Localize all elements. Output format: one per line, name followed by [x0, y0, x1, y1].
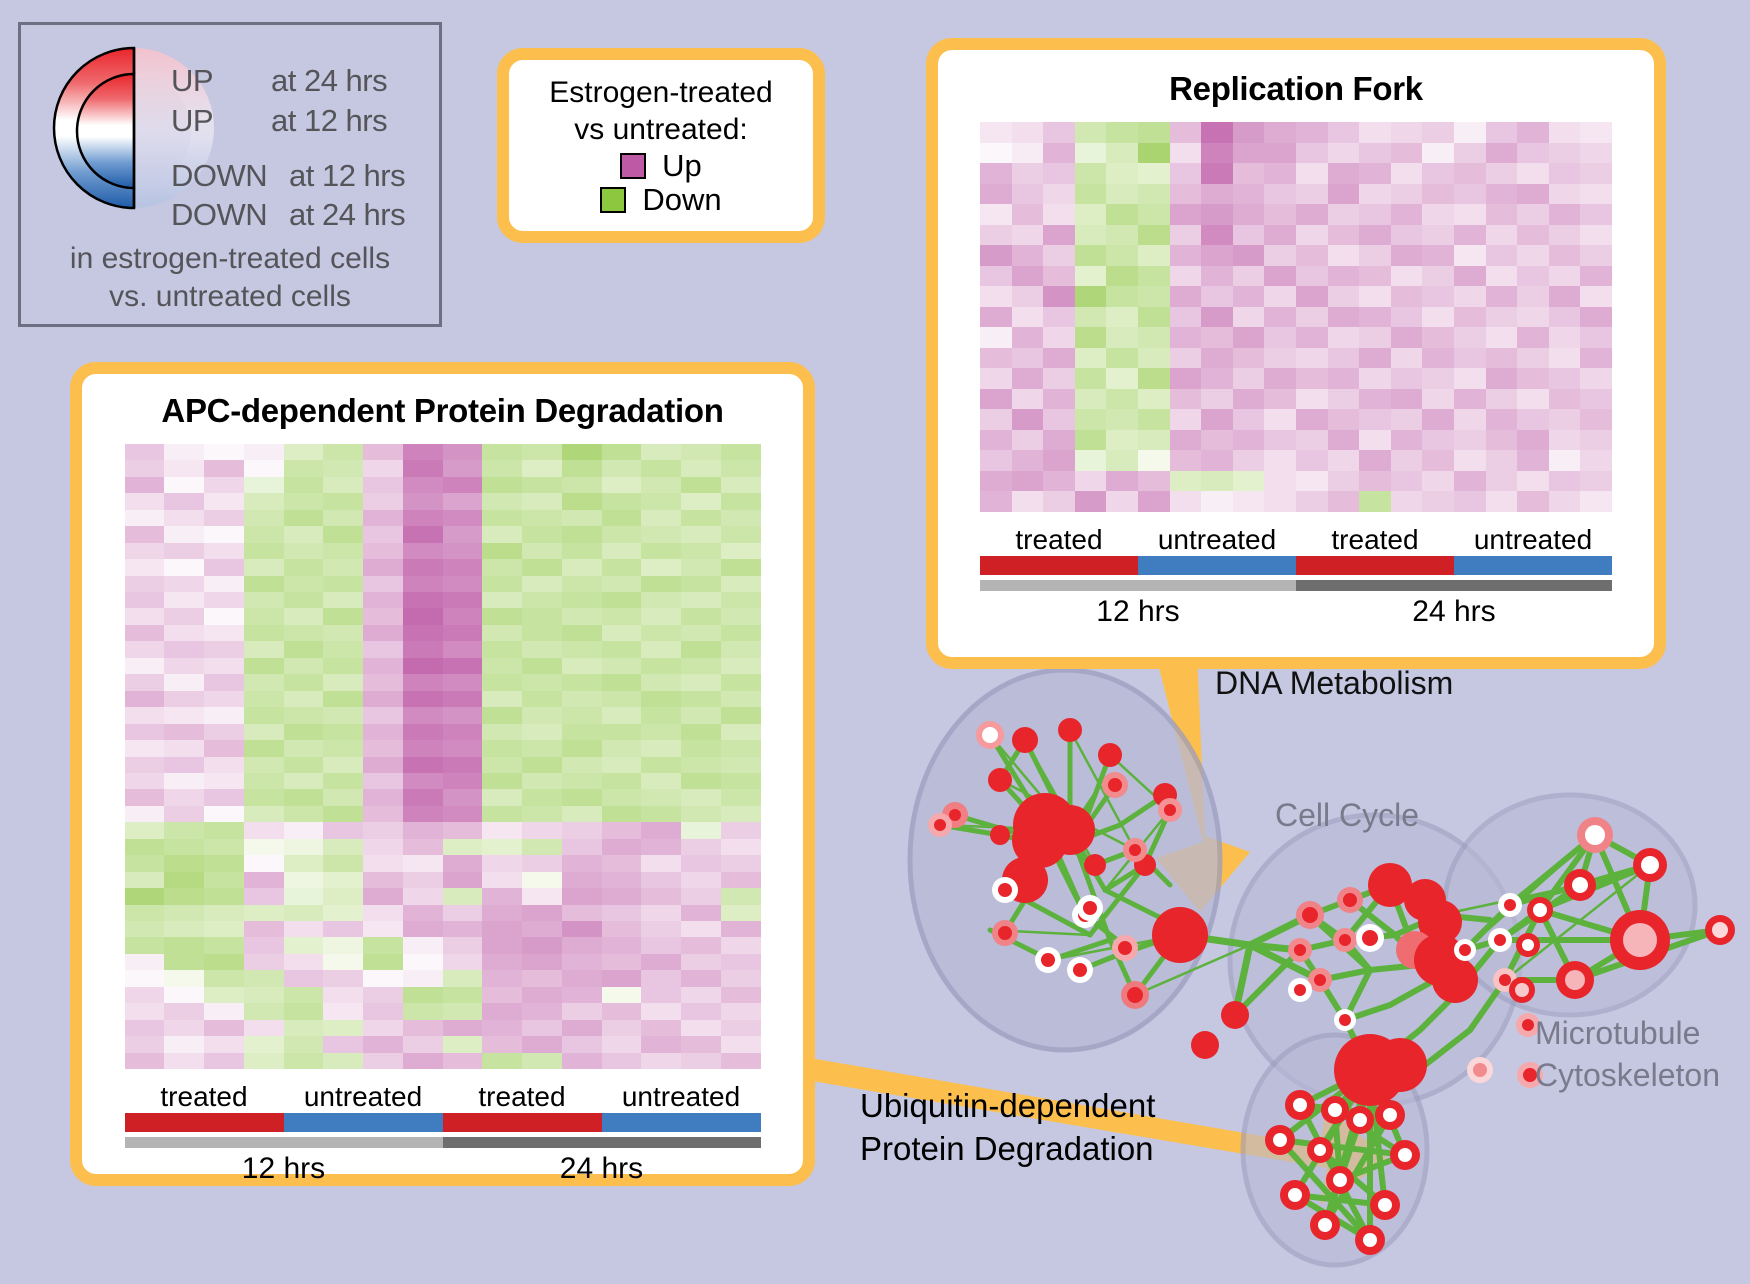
heatmap-cell	[1422, 409, 1454, 430]
heatmap-cell	[403, 806, 443, 822]
heatmap-cell	[204, 641, 244, 657]
heatmap-cell	[1012, 184, 1044, 205]
heatmap-cell	[443, 691, 483, 707]
heatmap-cell	[562, 773, 602, 789]
heatmap-cell	[403, 1003, 443, 1019]
heatmap-cell	[602, 477, 642, 493]
heatmap-cell	[522, 559, 562, 575]
heatmap-cell	[323, 872, 363, 888]
heatmap-cell	[1391, 471, 1423, 492]
heatmap-cell	[1264, 122, 1296, 143]
heatmap-cell	[721, 921, 761, 937]
heatmap-cell	[1517, 348, 1549, 369]
heatmap-cell	[125, 987, 165, 1003]
legend-item-up: Up	[509, 150, 813, 182]
heatmap-cell	[204, 921, 244, 937]
heatmap-cell	[443, 493, 483, 509]
heatmap-cell	[681, 1003, 721, 1019]
heatmap-cell	[284, 839, 324, 855]
heatmap-cell	[641, 1036, 681, 1052]
time-label: 24 hrs	[1296, 595, 1612, 629]
group-label: untreated	[284, 1081, 443, 1113]
heatmap-cell	[681, 460, 721, 476]
heatmap-cell	[125, 674, 165, 690]
heatmap-cell	[1106, 430, 1138, 451]
heatmap-cell	[1106, 184, 1138, 205]
heatmap-cell	[244, 674, 284, 690]
heatmap-cell	[1264, 409, 1296, 430]
heatmap-cell	[1359, 266, 1391, 287]
heatmap-cell	[1043, 368, 1075, 389]
heatmap-cell	[204, 658, 244, 674]
heatmap-cell	[164, 855, 204, 871]
heatmap-cell	[1328, 327, 1360, 348]
heatmap-cell	[1170, 204, 1202, 225]
heatmap-cell	[522, 658, 562, 674]
heatmap-cell	[1138, 163, 1170, 184]
heatmap-cell	[1549, 450, 1581, 471]
heatmap-cell	[721, 822, 761, 838]
heatmap-cell	[1454, 204, 1486, 225]
heatmap-cell	[403, 674, 443, 690]
heatmap-cell	[244, 1020, 284, 1036]
heatmap-cell	[1296, 163, 1328, 184]
heatmap-cell	[1138, 204, 1170, 225]
heatmap-cell	[1170, 327, 1202, 348]
heatmap-cell	[284, 460, 324, 476]
heatmap-cell	[403, 888, 443, 904]
heatmap-cell	[284, 477, 324, 493]
heatmap-cell	[323, 789, 363, 805]
heatmap-cell	[1170, 368, 1202, 389]
heatmap-cell	[1359, 286, 1391, 307]
heatmap-cell	[1328, 122, 1360, 143]
heatmap-cell	[1075, 450, 1107, 471]
heatmap-cell	[1296, 122, 1328, 143]
heatmap-cell	[204, 576, 244, 592]
heatmap-cell	[1233, 163, 1265, 184]
heatmap-cell	[1170, 245, 1202, 266]
heatmap-cell	[1012, 163, 1044, 184]
heatmap-cell	[641, 493, 681, 509]
heatmap-cell	[602, 822, 642, 838]
heatmap-cell	[1517, 368, 1549, 389]
heatmap-cell	[1170, 450, 1202, 471]
heatmap-cell	[721, 460, 761, 476]
heatmap-cell	[1170, 286, 1202, 307]
heatmap-cell	[522, 872, 562, 888]
heatmap-cell	[284, 608, 324, 624]
heatmap-cell	[1580, 409, 1612, 430]
heatmap-cell	[1043, 266, 1075, 287]
heatmap-cell	[1264, 450, 1296, 471]
heatmap-cell	[721, 543, 761, 559]
treatment-bar-segment	[980, 556, 1138, 575]
heatmap-cell	[1454, 430, 1486, 451]
heatmap-cell	[125, 1020, 165, 1036]
apc-title: APC-dependent Protein Degradation	[82, 392, 803, 430]
heatmap-cell	[125, 789, 165, 805]
heatmap-cell	[323, 674, 363, 690]
heatmap-cell	[1075, 225, 1107, 246]
heatmap-cell	[980, 491, 1012, 512]
heatmap-cell	[244, 691, 284, 707]
heatmap-cell	[363, 1053, 403, 1069]
heatmap-cell	[562, 888, 602, 904]
heatmap-cell	[1549, 327, 1581, 348]
heatmap-cell	[1486, 348, 1518, 369]
heatmap-cell	[482, 576, 522, 592]
heatmap-cell	[1422, 368, 1454, 389]
heatmap-cell	[522, 937, 562, 953]
heatmap-cell	[1486, 245, 1518, 266]
heatmap-cell	[1106, 163, 1138, 184]
heatmap-cell	[562, 921, 602, 937]
heatmap-cell	[1043, 491, 1075, 512]
heatmap-cell	[1264, 430, 1296, 451]
heatmap-cell	[1233, 245, 1265, 266]
heatmap-cell	[1328, 225, 1360, 246]
heatmap-cell	[562, 576, 602, 592]
heatmap-cell	[482, 543, 522, 559]
heatmap-cell	[1233, 327, 1265, 348]
heatmap-cell	[323, 954, 363, 970]
heatmap-cell	[244, 1003, 284, 1019]
treatment-bar-segment	[125, 1113, 284, 1132]
heatmap-cell	[482, 641, 522, 657]
heatmap-cell	[1328, 368, 1360, 389]
heatmap-cell	[641, 559, 681, 575]
heatmap-cell	[522, 855, 562, 871]
heatmap-cell	[1201, 389, 1233, 410]
heatmap-cell	[681, 987, 721, 1003]
heatmap-cell	[681, 806, 721, 822]
heatmap-cell	[1012, 204, 1044, 225]
heatmap-cell	[1138, 389, 1170, 410]
heatmap-cell	[204, 707, 244, 723]
heatmap-cell	[562, 987, 602, 1003]
heatmap-cell	[641, 740, 681, 756]
heatmap-cell	[721, 1003, 761, 1019]
heatmap-cell	[602, 905, 642, 921]
heatmap-cell	[1359, 389, 1391, 410]
heatmap-cell	[1012, 409, 1044, 430]
heatmap-cell	[1486, 266, 1518, 287]
heatmap-cell	[284, 1003, 324, 1019]
heatmap-cell	[125, 872, 165, 888]
heatmap-cell	[1549, 491, 1581, 512]
heatmap-cell	[1359, 245, 1391, 266]
heatmap-cell	[284, 970, 324, 986]
heatmap-cell	[244, 707, 284, 723]
heatmap-cell	[1075, 430, 1107, 451]
heatmap-cell	[1233, 286, 1265, 307]
heatmap-cell	[1517, 204, 1549, 225]
heatmap-cell	[1264, 266, 1296, 287]
heatmap-cell	[1580, 225, 1612, 246]
heatmap-cell	[125, 888, 165, 904]
heatmap-cell	[244, 444, 284, 460]
heatmap-cell	[284, 937, 324, 953]
heatmap-cell	[1106, 491, 1138, 512]
heatmap-cell	[323, 987, 363, 1003]
heatmap-cell	[602, 773, 642, 789]
treatment-bar-segment	[443, 1113, 602, 1132]
heatmap-cell	[363, 839, 403, 855]
heatmap-cell	[244, 543, 284, 559]
heatmap-cell	[244, 921, 284, 937]
heatmap-cell	[125, 773, 165, 789]
heatmap-cell	[363, 872, 403, 888]
heatmap-cell	[1549, 307, 1581, 328]
heatmap-cell	[1422, 143, 1454, 164]
heatmap-cell	[482, 691, 522, 707]
heatmap-cell	[323, 625, 363, 641]
heatmap-cell	[323, 839, 363, 855]
heatmap-cell	[482, 872, 522, 888]
heatmap-cell	[323, 707, 363, 723]
heatmap-cell	[1075, 286, 1107, 307]
heatmap-cell	[562, 839, 602, 855]
heatmap-cell	[522, 839, 562, 855]
heatmap-cell	[562, 905, 602, 921]
heatmap-cell	[721, 757, 761, 773]
heatmap-cell	[1454, 327, 1486, 348]
heatmap-cell	[1391, 368, 1423, 389]
heatmap-cell	[1233, 225, 1265, 246]
heatmap-cell	[1580, 184, 1612, 205]
heatmap-cell	[244, 592, 284, 608]
heatmap-cell	[641, 444, 681, 460]
heatmap-cell	[1201, 450, 1233, 471]
heatmap-cell	[125, 707, 165, 723]
heatmap-cell	[125, 510, 165, 526]
heatmap-cell	[363, 740, 403, 756]
heatmap-cell	[482, 493, 522, 509]
panel-apc-dependent-protein-degradation: APC-dependent Protein Degradation treate…	[70, 362, 815, 1186]
heatmap-cell	[1233, 389, 1265, 410]
heatmap-cell	[1422, 348, 1454, 369]
heatmap-cell	[284, 724, 324, 740]
heatmap-cell	[562, 493, 602, 509]
heatmap-cell	[681, 1020, 721, 1036]
heatmap-cell	[1580, 491, 1612, 512]
heatmap-cell	[403, 625, 443, 641]
heatmap-cell	[1391, 204, 1423, 225]
heatmap-cell	[721, 724, 761, 740]
heatmap-cell	[1454, 471, 1486, 492]
heatmap-cell	[164, 724, 204, 740]
heatmap-cell	[204, 937, 244, 953]
heatmap-cell	[1012, 389, 1044, 410]
time-bar-segment	[443, 1137, 761, 1148]
heatmap-cell	[522, 1053, 562, 1069]
heatmap-cell	[1391, 450, 1423, 471]
heatmap-cell	[562, 724, 602, 740]
heatmap-cell	[403, 872, 443, 888]
heatmap-cell	[284, 905, 324, 921]
heatmap-cell	[403, 477, 443, 493]
heatmap-cell	[1580, 307, 1612, 328]
heatmap-cell	[1454, 163, 1486, 184]
heatmap-cell	[403, 937, 443, 953]
heatmap-cell	[980, 122, 1012, 143]
heatmap-cell	[244, 872, 284, 888]
heatmap-cell	[641, 806, 681, 822]
heatmap-cell	[980, 204, 1012, 225]
heatmap-cell	[482, 937, 522, 953]
heatmap-cell	[443, 954, 483, 970]
up-down-legend-line1: Estrogen-treated	[509, 74, 813, 111]
heatmap-cell	[980, 266, 1012, 287]
heatmap-cell	[1170, 389, 1202, 410]
heatmap-cell	[602, 674, 642, 690]
heatmap-cell	[1233, 409, 1265, 430]
heatmap-cell	[284, 773, 324, 789]
heatmap-cell	[403, 1020, 443, 1036]
heatmap-cell	[363, 493, 403, 509]
heatmap-cell	[681, 740, 721, 756]
heatmap-cell	[1486, 389, 1518, 410]
heatmap-cell	[1391, 122, 1423, 143]
heatmap-cell	[1106, 409, 1138, 430]
heatmap-cell	[1486, 225, 1518, 246]
heatmap-cell	[1517, 491, 1549, 512]
heatmap-cell	[482, 921, 522, 937]
heatmap-cell	[641, 658, 681, 674]
heatmap-cell	[641, 674, 681, 690]
time-bar-segment	[125, 1137, 443, 1148]
heatmap-cell	[1454, 122, 1486, 143]
heatmap-cell	[681, 872, 721, 888]
heatmap-cell	[1422, 491, 1454, 512]
up-label: Up	[662, 150, 702, 182]
heatmap-cell	[403, 789, 443, 805]
heatmap-cell	[164, 757, 204, 773]
heatmap-cell	[1359, 471, 1391, 492]
heatmap-cell	[443, 888, 483, 904]
heatmap-cell	[641, 937, 681, 953]
heatmap-cell	[980, 327, 1012, 348]
heatmap-cell	[1012, 430, 1044, 451]
heatmap-cell	[1233, 184, 1265, 205]
down-label: Down	[642, 184, 721, 216]
heatmap-cell	[164, 970, 204, 986]
heatmap-cell	[1296, 491, 1328, 512]
heatmap-cell	[602, 789, 642, 805]
heatmap-cell	[602, 921, 642, 937]
heatmap-cell	[1517, 245, 1549, 266]
heatmap-cell	[244, 970, 284, 986]
heatmap-cell	[1201, 409, 1233, 430]
heatmap-cell	[1170, 491, 1202, 512]
heatmap-cell	[1170, 348, 1202, 369]
heatmap-cell	[562, 954, 602, 970]
heatmap-cell	[522, 444, 562, 460]
heatmap-cell	[443, 987, 483, 1003]
heatmap-cell	[1012, 266, 1044, 287]
heatmap-cell	[403, 493, 443, 509]
heatmap-cell	[443, 526, 483, 542]
heatmap-cell	[721, 576, 761, 592]
heatmap-cell	[1549, 184, 1581, 205]
heatmap-cell	[721, 608, 761, 624]
colour-wheel-legend: UP at 24 hrs UP at 12 hrs DOWN at 12 hrs…	[18, 22, 442, 327]
heatmap-cell	[1391, 143, 1423, 164]
heatmap-cell	[1517, 143, 1549, 164]
heatmap-cell	[443, 674, 483, 690]
heatmap-cell	[323, 493, 363, 509]
heatmap-cell	[721, 510, 761, 526]
heatmap-cell	[125, 658, 165, 674]
heatmap-cell	[125, 1036, 165, 1052]
heatmap-cell	[641, 526, 681, 542]
heatmap-cell	[1106, 266, 1138, 287]
heatmap-cell	[1170, 184, 1202, 205]
heatmap-cell	[363, 543, 403, 559]
heatmap-cell	[284, 757, 324, 773]
heatmap-cell	[482, 773, 522, 789]
heatmap-cell	[721, 625, 761, 641]
heatmap-cell	[284, 1036, 324, 1052]
heatmap-cell	[562, 707, 602, 723]
heatmap-cell	[1391, 327, 1423, 348]
heatmap-cell	[1454, 450, 1486, 471]
heatmap-cell	[1075, 122, 1107, 143]
heatmap-cell	[204, 806, 244, 822]
heatmap-cell	[1486, 122, 1518, 143]
heatmap-cell	[522, 724, 562, 740]
heatmap-cell	[403, 1053, 443, 1069]
heatmap-cell	[1043, 286, 1075, 307]
heatmap-cell	[1296, 307, 1328, 328]
heatmap-cell	[125, 905, 165, 921]
heatmap-cell	[522, 477, 562, 493]
heatmap-cell	[1075, 266, 1107, 287]
apc-axis: treated untreated treated untreated 12 h…	[125, 1081, 761, 1186]
apc-time-labels: 12 hrs 24 hrs	[125, 1152, 761, 1186]
heatmap-cell	[1580, 204, 1612, 225]
heatmap-cell	[1454, 368, 1486, 389]
heatmap-cell	[363, 954, 403, 970]
apc-group-labels: treated untreated treated untreated	[125, 1081, 761, 1113]
heatmap-cell	[363, 526, 403, 542]
heatmap-cell	[1391, 163, 1423, 184]
heatmap-cell	[980, 471, 1012, 492]
heatmap-cell	[482, 855, 522, 871]
heatmap-cell	[1328, 286, 1360, 307]
panel-replication-fork: Replication Fork treated untreated treat…	[926, 38, 1666, 669]
heatmap-cell	[443, 773, 483, 789]
heatmap-cell	[562, 855, 602, 871]
heatmap-cell	[443, 477, 483, 493]
heatmap-cell	[1296, 327, 1328, 348]
heatmap-cell	[284, 559, 324, 575]
heatmap-cell	[721, 987, 761, 1003]
time-label: 24 hrs	[443, 1152, 761, 1186]
heatmap-cell	[1359, 409, 1391, 430]
heatmap-cell	[164, 789, 204, 805]
heatmap-cell	[1201, 307, 1233, 328]
heatmap-cell	[1549, 225, 1581, 246]
heatmap-cell	[164, 839, 204, 855]
heatmap-cell	[1296, 204, 1328, 225]
heatmap-cell	[721, 674, 761, 690]
up-down-legend-line2: vs untreated:	[509, 111, 813, 148]
heatmap-cell	[204, 724, 244, 740]
heatmap-cell	[244, 789, 284, 805]
heatmap-cell	[1233, 471, 1265, 492]
